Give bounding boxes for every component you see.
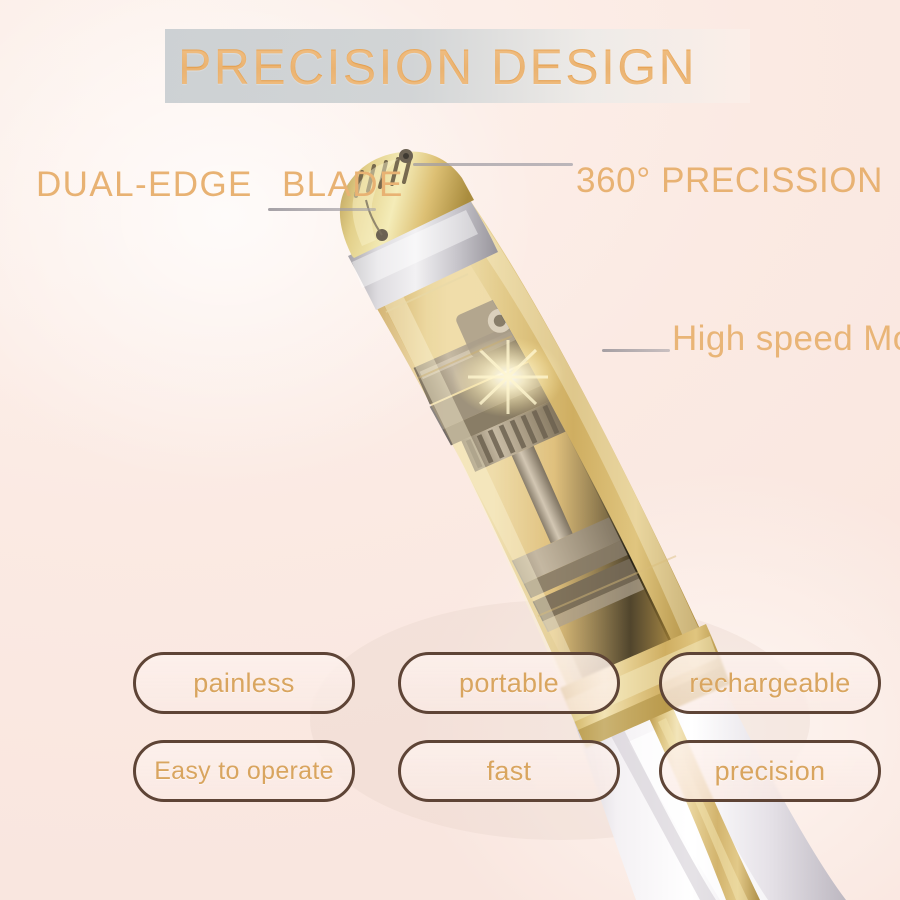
feature-pill-rechargeable: rechargeable bbox=[659, 652, 881, 714]
feature-pill-painless: painless bbox=[133, 652, 355, 714]
feature-pill-portable: portable bbox=[398, 652, 620, 714]
callout-high-speed-motor-line1: High speed bbox=[672, 319, 853, 358]
callout-dual-edge-blade-line1: DUAL-EDGE bbox=[36, 165, 253, 204]
product-infographic: PRECISION DESIGN DUAL-EDGE BLADE 360° PR… bbox=[0, 0, 900, 900]
page-title: PRECISION DESIGN bbox=[178, 32, 878, 102]
callout-precision-trimmer-line1: 360° PRECISSION bbox=[576, 161, 883, 200]
leader-line-high-speed-motor bbox=[602, 349, 670, 352]
callout-high-speed-motor-line2: Motor bbox=[863, 319, 900, 358]
callout-dual-edge-blade: DUAL-EDGE BLADE bbox=[36, 156, 404, 214]
callout-precision-trimmer-line2: TRIMMER bbox=[893, 161, 900, 200]
callout-precision-trimmer: 360° PRECISSION TRIMMER bbox=[576, 152, 900, 210]
callout-high-speed-motor: High speed Motor bbox=[672, 312, 900, 366]
feature-pill-easy-to-operate: Easy to operate bbox=[133, 740, 355, 802]
leader-line-precision-trimmer bbox=[413, 163, 573, 166]
feature-pill-precision: precision bbox=[659, 740, 881, 802]
feature-pill-fast: fast bbox=[398, 740, 620, 802]
callout-dual-edge-blade-line2: BLADE bbox=[264, 165, 404, 204]
